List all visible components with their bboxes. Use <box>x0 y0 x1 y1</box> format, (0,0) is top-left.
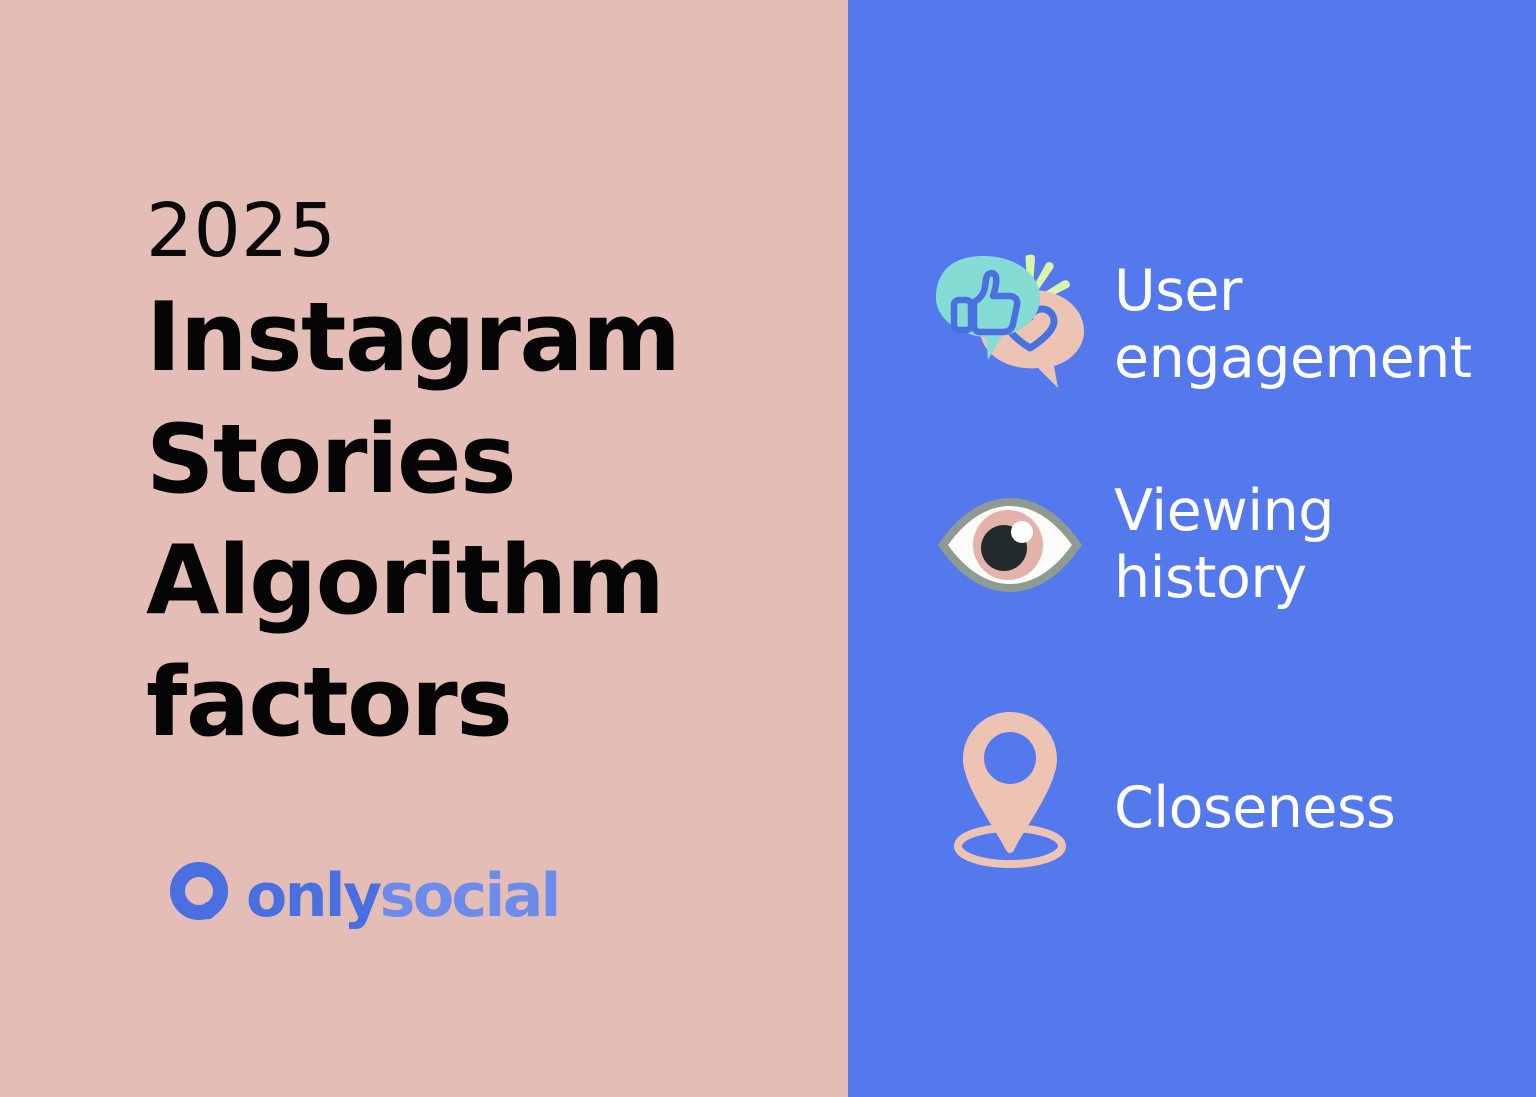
page-title: Instagram Stories Algorithm factors <box>146 278 806 764</box>
onlysocial-logomark-icon <box>168 862 232 930</box>
title-block: 2025 Instagram Stories Algorithm factors <box>146 196 806 765</box>
logo-word-social: social <box>380 861 559 931</box>
right-panel: User engagement <box>848 0 1536 1097</box>
headline-line-4: factors <box>146 643 806 765</box>
brand-logo[interactable]: onlysocial <box>168 862 559 930</box>
feature-label-viewing-history: Viewing history <box>1114 478 1334 613</box>
logo-wordmark: onlysocial <box>246 866 559 926</box>
location-pin-icon <box>926 700 1094 870</box>
eye-icon <box>926 470 1094 620</box>
speech-bubbles-thumbs-up-heart-icon <box>926 248 1094 398</box>
feature-item-user-engagement[interactable]: User engagement <box>926 248 1472 398</box>
headline-line-3: Algorithm <box>146 521 806 643</box>
algorithm-factors-list: User engagement <box>848 0 1536 1097</box>
feature-item-viewing-history[interactable]: Viewing history <box>926 470 1334 620</box>
logo-word-only: only <box>246 861 380 931</box>
headline-line-2: Stories <box>146 400 806 522</box>
left-panel: 2025 Instagram Stories Algorithm factors… <box>0 0 848 1097</box>
feature-label-user-engagement: User engagement <box>1114 258 1472 393</box>
headline-line-1: Instagram <box>146 278 806 400</box>
feature-label-closeness: Closeness <box>1114 775 1395 842</box>
feature-item-closeness[interactable]: Closeness <box>926 700 1395 870</box>
year-label: 2025 <box>146 196 806 266</box>
poster-canvas: 2025 Instagram Stories Algorithm factors… <box>0 0 1536 1097</box>
